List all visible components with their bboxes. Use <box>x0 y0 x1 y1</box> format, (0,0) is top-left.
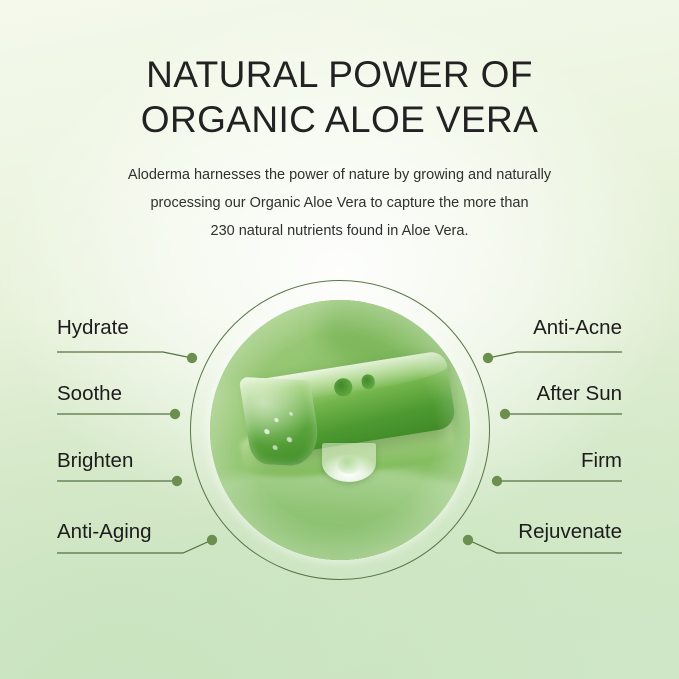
benefit-label-hydrate[interactable]: Hydrate <box>57 316 129 340</box>
page-subtitle-line-2: processing our Organic Aloe Vera to capt… <box>90 189 590 217</box>
page-title-line-1: NATURAL POWER OF <box>0 52 679 97</box>
aloe-vera-infographic: NATURAL POWER OF ORGANIC ALOE VERA Alode… <box>0 0 679 679</box>
connector-dot-firm <box>492 476 502 486</box>
aloe-vera-leaf-photo <box>210 300 470 560</box>
photo-droplet-core <box>338 456 361 474</box>
benefit-label-anti-aging[interactable]: Anti-Aging <box>57 520 152 544</box>
page-subtitle: Aloderma harnesses the power of nature b… <box>90 142 590 245</box>
benefit-label-after-sun[interactable]: After Sun <box>537 382 622 406</box>
photo-gel-droplet <box>322 443 377 482</box>
benefit-label-brighten[interactable]: Brighten <box>57 449 133 473</box>
page-title-line-2: ORGANIC ALOE VERA <box>0 97 679 142</box>
page-subtitle-line-3: 230 natural nutrients found in Aloe Vera… <box>90 217 590 245</box>
connector-line-anti-acne <box>488 352 622 358</box>
page-subtitle-line-1: Aloderma harnesses the power of nature b… <box>90 161 590 189</box>
photo-leaf-veins <box>210 541 470 560</box>
connector-line-hydrate <box>57 352 192 358</box>
benefit-label-soothe[interactable]: Soothe <box>57 382 122 406</box>
connector-dot-soothe <box>170 409 180 419</box>
header-block: NATURAL POWER OF ORGANIC ALOE VERA Alode… <box>0 0 679 245</box>
benefit-label-firm[interactable]: Firm <box>581 449 622 473</box>
benefit-label-anti-acne[interactable]: Anti-Acne <box>533 316 622 340</box>
page-title: NATURAL POWER OF ORGANIC ALOE VERA <box>0 0 679 142</box>
center-circle-group <box>190 280 490 580</box>
connector-dot-after-sun <box>500 409 510 419</box>
benefit-label-rejuvenate[interactable]: Rejuvenate <box>518 520 622 544</box>
connector-dot-brighten <box>172 476 182 486</box>
